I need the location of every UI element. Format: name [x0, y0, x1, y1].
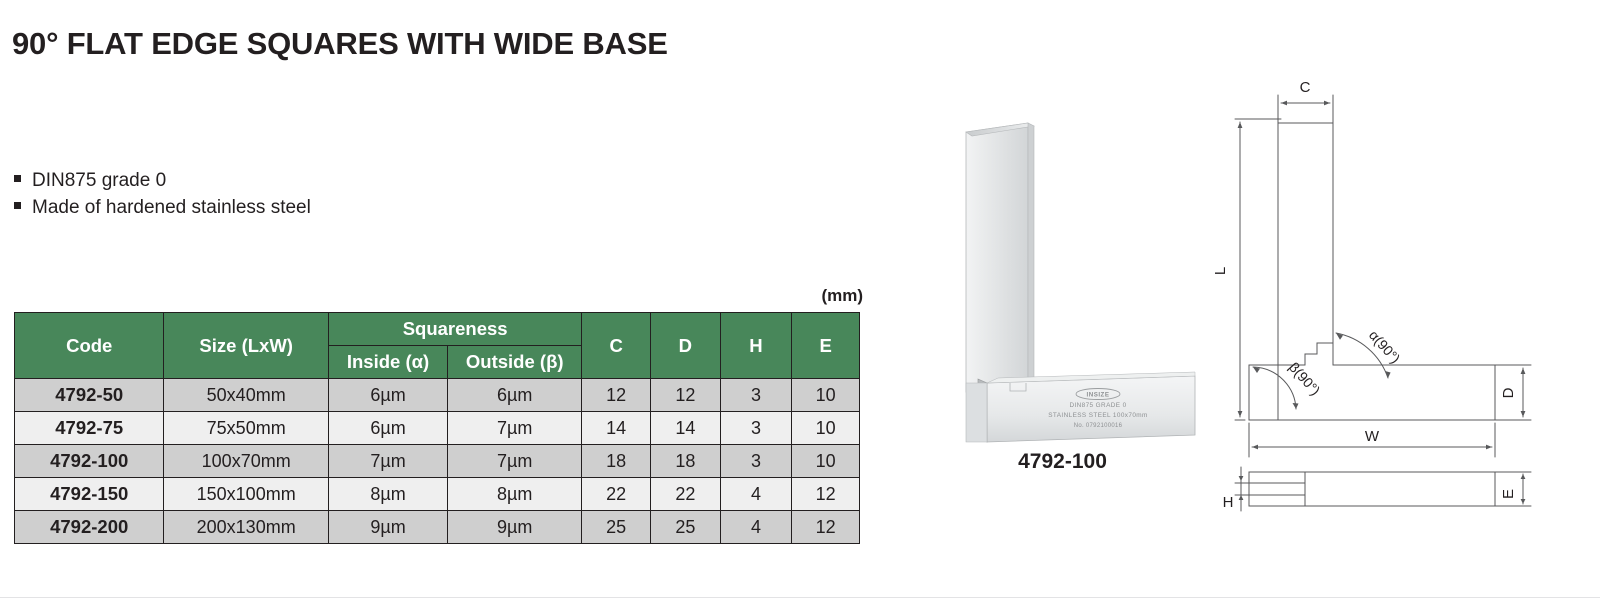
cell-d: 25: [651, 511, 721, 544]
technical-drawing: C L W D E H α(90°) β(90°): [1195, 75, 1585, 515]
dimension-h: [1239, 467, 1244, 511]
list-item: DIN875 grade 0: [14, 167, 311, 194]
cell-inside: 6µm: [328, 379, 447, 412]
table-header-row-1: Code Size (LxW) Squareness C D H E: [15, 313, 860, 346]
photo-caption: 4792-100: [930, 450, 1195, 474]
column-header-inside: Inside (α): [328, 346, 447, 379]
cell-size: 50x40mm: [164, 379, 329, 412]
column-header-outside: Outside (β): [448, 346, 582, 379]
cell-c: 12: [582, 379, 651, 412]
cell-inside: 8µm: [328, 478, 447, 511]
cell-inside: 9µm: [328, 511, 447, 544]
cell-d: 14: [651, 412, 721, 445]
product-photo: INSIZE DIN875 GRADE 0 STAINLESS STEEL 10…: [930, 95, 1195, 495]
cell-d: 22: [651, 478, 721, 511]
cell-h: 3: [720, 412, 792, 445]
drawing-plan-view: [1235, 472, 1495, 506]
cell-size: 100x70mm: [164, 445, 329, 478]
cell-e: 10: [792, 379, 860, 412]
cell-outside: 6µm: [448, 379, 582, 412]
column-header-size: Size (LxW): [164, 313, 329, 379]
cell-c: 14: [582, 412, 651, 445]
unit-note: (mm): [821, 286, 863, 306]
cell-size: 200x130mm: [164, 511, 329, 544]
cell-c: 25: [582, 511, 651, 544]
column-header-h: H: [720, 313, 792, 379]
label-l: L: [1212, 267, 1229, 275]
svg-text:DIN875 GRADE 0: DIN875 GRADE 0: [1069, 402, 1126, 409]
cell-outside: 8µm: [448, 478, 582, 511]
column-header-squareness: Squareness: [328, 313, 581, 346]
table-row: 4792-100 100x70mm 7µm 7µm 18 18 3 10: [15, 445, 860, 478]
svg-text:INSIZE: INSIZE: [1087, 392, 1110, 399]
dimension-l: [1235, 119, 1281, 420]
column-header-e: E: [792, 313, 860, 379]
cell-h: 3: [720, 445, 792, 478]
feature-text: Made of hardened stainless steel: [32, 194, 311, 221]
label-w: W: [1365, 428, 1380, 445]
bullet-square-icon: [14, 175, 21, 182]
cell-outside: 7µm: [448, 445, 582, 478]
cell-h: 4: [720, 478, 792, 511]
cell-code: 4792-150: [15, 478, 164, 511]
label-e: E: [1500, 489, 1517, 499]
column-header-c: C: [582, 313, 651, 379]
cell-outside: 9µm: [448, 511, 582, 544]
table-body: 4792-50 50x40mm 6µm 6µm 12 12 3 10 4792-…: [15, 379, 860, 544]
catalog-page: 90° FLAT EDGE SQUARES WITH WIDE BASE DIN…: [0, 0, 1600, 608]
feature-list: DIN875 grade 0 Made of hardened stainles…: [14, 167, 311, 221]
cell-e: 12: [792, 478, 860, 511]
cell-h: 3: [720, 379, 792, 412]
cell-size: 75x50mm: [164, 412, 329, 445]
table-row: 4792-50 50x40mm 6µm 6µm 12 12 3 10: [15, 379, 860, 412]
svg-text:STAINLESS STEEL 100x70mm: STAINLESS STEEL 100x70mm: [1048, 412, 1147, 419]
label-d: D: [1500, 387, 1517, 398]
cell-outside: 7µm: [448, 412, 582, 445]
cell-code: 4792-75: [15, 412, 164, 445]
footer-divider: [0, 597, 1600, 598]
cell-h: 4: [720, 511, 792, 544]
cell-inside: 7µm: [328, 445, 447, 478]
bullet-square-icon: [14, 202, 21, 209]
square-blade: [966, 123, 1034, 392]
cell-c: 22: [582, 478, 651, 511]
list-item: Made of hardened stainless steel: [14, 194, 311, 221]
svg-text:No. 0792100016: No. 0792100016: [1074, 423, 1123, 429]
table-row: 4792-150 150x100mm 8µm 8µm 22 22 4 12: [15, 478, 860, 511]
cell-e: 12: [792, 511, 860, 544]
cell-code: 4792-50: [15, 379, 164, 412]
dimension-c: [1278, 95, 1333, 127]
cell-code: 4792-100: [15, 445, 164, 478]
page-title: 90° FLAT EDGE SQUARES WITH WIDE BASE: [12, 26, 668, 62]
specification-table: Code Size (LxW) Squareness C D H E Insid…: [14, 312, 860, 544]
cell-d: 18: [651, 445, 721, 478]
cell-size: 150x100mm: [164, 478, 329, 511]
cell-e: 10: [792, 412, 860, 445]
label-c: C: [1300, 79, 1311, 96]
table-row: 4792-200 200x130mm 9µm 9µm 25 25 4 12: [15, 511, 860, 544]
cell-e: 10: [792, 445, 860, 478]
label-alpha: α(90°): [1366, 327, 1404, 366]
column-header-code: Code: [15, 313, 164, 379]
cell-inside: 6µm: [328, 412, 447, 445]
label-h: H: [1223, 494, 1234, 511]
cell-code: 4792-200: [15, 511, 164, 544]
column-header-d: D: [651, 313, 721, 379]
drawing-blade-outline: [1278, 123, 1333, 365]
feature-text: DIN875 grade 0: [32, 167, 166, 194]
drawing-base-outline: [1249, 343, 1495, 420]
cell-c: 18: [582, 445, 651, 478]
table-row: 4792-75 75x50mm 6µm 7µm 14 14 3 10: [15, 412, 860, 445]
cell-d: 12: [651, 379, 721, 412]
